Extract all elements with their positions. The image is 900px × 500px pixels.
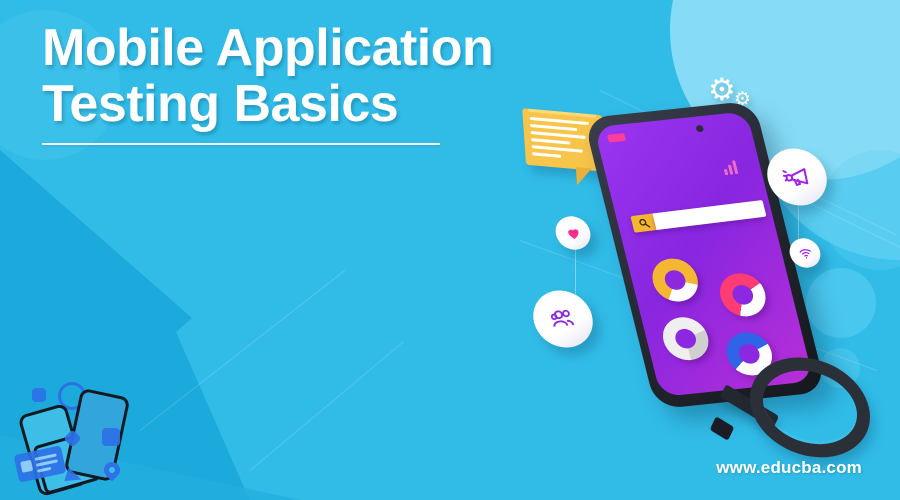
hero-illustration: ⚙ ⚙ ⚙ (520, 50, 900, 480)
title-underline (42, 143, 440, 145)
chart-icon (32, 388, 46, 402)
wifi-icon (796, 245, 814, 261)
chat-bubble-tail (576, 167, 593, 187)
page-title-line-1: Mobile Application (42, 19, 493, 77)
metric-ring-white (658, 315, 713, 362)
page-title-line-2: Testing Basics (42, 75, 398, 133)
heart-badge (552, 215, 593, 251)
people-badge (528, 288, 598, 350)
badge-connector-line (798, 204, 799, 240)
badge-connector-line (575, 248, 576, 294)
app-tile-icon (102, 428, 120, 446)
search-bar[interactable] (630, 200, 766, 233)
page-title: Mobile ApplicationTesting Basics (42, 20, 562, 132)
camera-icon (695, 125, 704, 133)
decor-streak (250, 342, 404, 471)
people-icon (546, 304, 580, 334)
gear-icon: ⚙ (708, 74, 736, 105)
heart-icon (564, 225, 582, 241)
metric-ring-yellow (648, 256, 703, 303)
megaphone-icon (779, 161, 815, 193)
search-input[interactable] (652, 200, 766, 230)
signal-bars-icon (721, 157, 747, 175)
magnifier-lens (750, 349, 870, 466)
battery-icon (607, 133, 626, 143)
devices-cluster (10, 374, 160, 494)
promo-banner: Mobile ApplicationTesting Basics ⚙ ⚙ ⚙ (0, 0, 900, 500)
metric-ring-pink (715, 271, 770, 318)
site-url: www.educba.com (716, 458, 862, 478)
magnifier-grip (710, 416, 735, 441)
headline-block: Mobile ApplicationTesting Basics (42, 20, 562, 145)
